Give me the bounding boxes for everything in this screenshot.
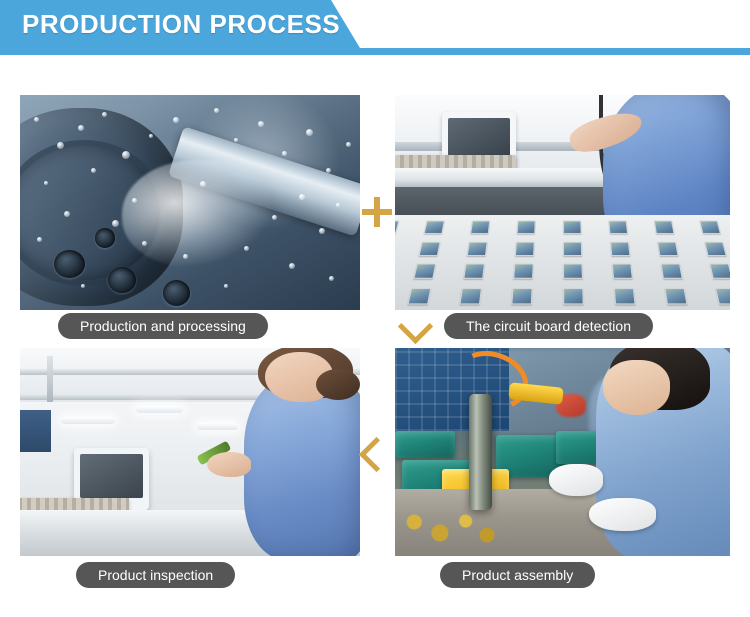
- inspector-blue-smock: [244, 377, 360, 556]
- ceiling-lamp: [136, 406, 184, 413]
- photo-cnc-machining: [20, 95, 360, 310]
- inspector-hand: [207, 452, 251, 477]
- pcb-grid: [395, 215, 730, 310]
- caption-the-circuit-board-detection: The circuit board detection: [444, 313, 653, 339]
- photo-product-assembly: [395, 348, 730, 556]
- page-header: PRODUCTION PROCESS: [0, 0, 750, 62]
- electric-screwdriver-shape: [469, 394, 492, 510]
- page-title: PRODUCTION PROCESS: [22, 0, 340, 48]
- ceiling-lamp: [61, 417, 115, 424]
- plus-icon: [362, 197, 392, 227]
- white-glove-shape: [549, 464, 603, 495]
- chevron-down-icon: [398, 309, 433, 344]
- photo-circuit-board-detection: [395, 95, 730, 310]
- chevron-left-icon: [359, 437, 394, 472]
- step-card-production-and-processing[interactable]: [20, 95, 360, 310]
- ceiling-truss-shape: [47, 356, 53, 402]
- caption-product-inspection: Product inspection: [76, 562, 235, 588]
- header-underline: [0, 48, 750, 55]
- step-card-product-inspection[interactable]: [20, 348, 360, 556]
- worker-face: [603, 360, 670, 414]
- blue-panel-shape: [20, 410, 51, 452]
- coolant-droplets: [20, 95, 360, 310]
- photo-product-inspection: [20, 348, 360, 556]
- step-card-the-circuit-board-detection[interactable]: [395, 95, 730, 310]
- inspector-hair-bun: [316, 369, 360, 400]
- step-card-product-assembly[interactable]: [395, 348, 730, 556]
- caption-production-and-processing: Production and processing: [58, 313, 268, 339]
- ceiling-lamp: [197, 423, 238, 430]
- pcb-tray-shape: [395, 215, 730, 310]
- teal-crate-shape: [395, 431, 455, 458]
- white-glove-shape: [589, 498, 656, 531]
- caption-product-assembly: Product assembly: [440, 562, 595, 588]
